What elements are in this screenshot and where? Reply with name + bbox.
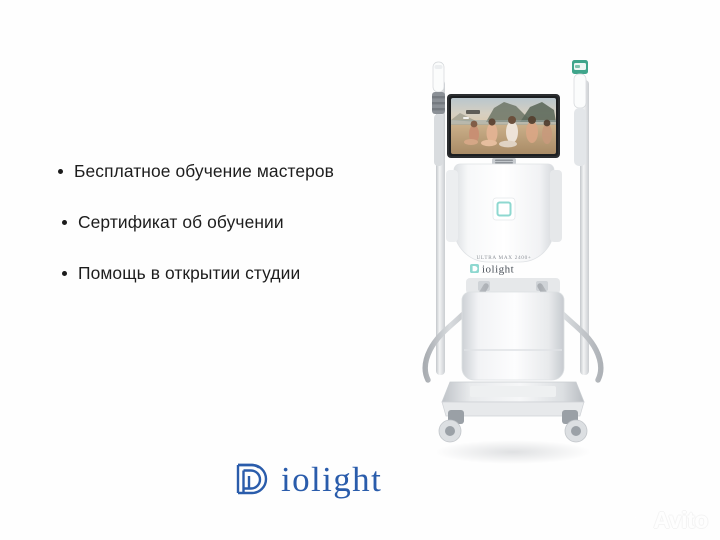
feature-list: Бесплатное обучение мастеров Сертификат … [58, 160, 418, 313]
bullet-dot-icon [62, 220, 67, 225]
laser-handpiece-green-tip [572, 60, 588, 166]
bullet-dot-icon [62, 271, 67, 276]
list-item: Сертификат об обучении [58, 211, 418, 233]
floor-shadow [435, 440, 591, 464]
list-item: Помощь в открытии студии [58, 262, 418, 284]
device-upper-body [454, 164, 554, 262]
promo-slide: Бесплатное обучение мастеров Сертификат … [0, 0, 720, 540]
right-side-panel [550, 170, 562, 242]
list-item: Бесплатное обучение мастеров [58, 160, 418, 182]
avito-wordmark: Avito [653, 509, 708, 532]
brand-name: iolight [281, 462, 382, 497]
caster-wheel [439, 410, 464, 442]
device-lower-body [462, 292, 564, 380]
list-item-label: Бесплатное обучение мастеров [74, 160, 334, 182]
power-indicator-icon [493, 198, 515, 220]
bullet-dot-icon [58, 169, 63, 174]
device-model-label: ULTRA MAX 2400+ [476, 255, 531, 261]
diolight-d-monogram-icon [232, 458, 274, 500]
avito-watermark: Avito [629, 509, 708, 532]
device-image: ULTRA MAX 2400+ iolight [408, 50, 618, 470]
device-brand-label: iolight [482, 264, 514, 276]
device-brand-plate: ULTRA MAX 2400+ iolight [470, 255, 532, 276]
left-side-panel [446, 170, 458, 242]
list-item-label: Сертификат об обучении [78, 211, 284, 233]
device-screen [447, 94, 560, 165]
brand-logo: iolight [232, 458, 382, 500]
list-item-label: Помощь в открытии студии [78, 262, 300, 284]
caster-wheel [562, 410, 587, 442]
avito-dots-logo-icon [629, 510, 650, 531]
device-base [439, 382, 587, 442]
